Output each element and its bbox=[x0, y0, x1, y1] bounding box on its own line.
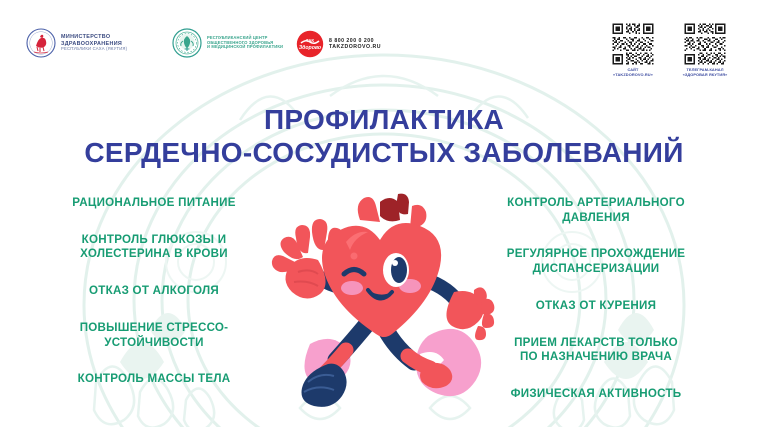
heart-shape bbox=[322, 223, 441, 337]
poster-canvas: МИНИСТЕРСТВО ЗДРАВООХРАНЕНИЯ РЕСПУБЛИКИ … bbox=[0, 0, 768, 427]
svg-text:ТАК: ТАК bbox=[306, 38, 315, 43]
tip-glucose-cholesterol-control: КОНТРОЛЬ ГЛЮКОЗЫ И ХОЛЕСТЕРИНА В КРОВИ bbox=[28, 233, 280, 262]
qr-website-caption-line2: «TAKZDOROVO.RU» bbox=[604, 73, 662, 78]
logo-ministry-text: МИНИСТЕРСТВО ЗДРАВООХРАНЕНИЯ РЕСПУБЛИКИ … bbox=[61, 34, 127, 52]
waving-heart-character bbox=[268, 186, 500, 412]
logo-public-health-center[interactable]: РЕСПУБЛИКАНСКИЙ ЦЕНТР ОБЩЕСТВЕННОГО ЗДОР… bbox=[172, 28, 283, 58]
tip-blood-pressure-control: КОНТРОЛЬ АРТЕРИАЛЬНОГО ДАВЛЕНИЯ bbox=[470, 196, 722, 225]
tip-line: ПО НАЗНАЧЕНИЮ ВРАЧА bbox=[470, 350, 722, 365]
qr-item-website[interactable]: САЙТ «TAKZDOROVO.RU» bbox=[604, 22, 662, 78]
green-emblem-icon bbox=[172, 28, 202, 58]
tip-line: ПРИЕМ ЛЕКАРСТВ ТОЛЬКО bbox=[470, 336, 722, 351]
svg-text:Здорово: Здорово bbox=[299, 45, 321, 51]
tip-line: ДИСПАНСЕРИЗАЦИИ bbox=[470, 262, 722, 277]
qr-telegram-caption-line2: «ЗДОРОВАЯ ЯКУТИЯ» bbox=[676, 73, 734, 78]
heart-body bbox=[322, 194, 441, 337]
qr-website-icon[interactable] bbox=[611, 22, 655, 66]
tips-column-left: РАЦИОНАЛЬНОЕ ПИТАНИЕ КОНТРОЛЬ ГЛЮКОЗЫ И … bbox=[28, 196, 280, 409]
tip-line: УСТОЙЧИВОСТИ bbox=[28, 336, 280, 351]
sakha-emblem-icon bbox=[26, 28, 56, 58]
tip-line: ХОЛЕСТЕРИНА В КРОВИ bbox=[28, 247, 280, 262]
hotline-website: TAKZDOROVO.RU bbox=[329, 44, 381, 50]
logo-takzdorovo-hotline[interactable]: ТАК Здорово 8 800 200 0 200 TAKZDOROVO.R… bbox=[296, 30, 381, 58]
title-line-2: СЕРДЕЧНО-СОСУДИСТЫХ ЗАБОЛЕВАНИЙ bbox=[0, 137, 768, 170]
logo-center-line3: И МЕДИЦИНСКОЙ ПРОФИЛАКТИКИ bbox=[207, 45, 283, 50]
tip-medication-by-prescription: ПРИЕМ ЛЕКАРСТВ ТОЛЬКО ПО НАЗНАЧЕНИЮ ВРАЧ… bbox=[470, 336, 722, 365]
tip-line: КОНТРОЛЬ ГЛЮКОЗЫ И bbox=[28, 233, 280, 248]
tip-no-alcohol: ОТКАЗ ОТ АЛКОГОЛЯ bbox=[28, 284, 280, 299]
tip-line: КОНТРОЛЬ МАССЫ ТЕЛА bbox=[28, 372, 280, 387]
page-title: ПРОФИЛАКТИКА СЕРДЕЧНО-СОСУДИСТЫХ ЗАБОЛЕВ… bbox=[0, 104, 768, 170]
qr-telegram-caption: ТЕЛЕГРАМ-КАНАЛ «ЗДОРОВАЯ ЯКУТИЯ» bbox=[676, 68, 734, 78]
tip-line: РАЦИОНАЛЬНОЕ ПИТАНИЕ bbox=[28, 196, 280, 211]
tip-weight-control: КОНТРОЛЬ МАССЫ ТЕЛА bbox=[28, 372, 280, 387]
logo-center-text: РЕСПУБЛИКАНСКИЙ ЦЕНТР ОБЩЕСТВЕННОГО ЗДОР… bbox=[207, 36, 283, 50]
qr-item-telegram[interactable]: ТЕЛЕГРАМ-КАНАЛ «ЗДОРОВАЯ ЯКУТИЯ» bbox=[676, 22, 734, 78]
logo-ministry-line3: РЕСПУБЛИКИ САХА (ЯКУТИЯ) bbox=[61, 47, 127, 52]
logo-hotline-text: 8 800 200 0 200 TAKZDOROVO.RU bbox=[329, 38, 381, 50]
tip-line: ОТКАЗ ОТ АЛКОГОЛЯ bbox=[28, 284, 280, 299]
tip-line: ФИЗИЧЕСКАЯ АКТИВНОСТЬ bbox=[470, 387, 722, 402]
qr-telegram-icon[interactable] bbox=[683, 22, 727, 66]
tip-line: ПОВЫШЕНИЕ СТРЕССО- bbox=[28, 321, 280, 336]
tip-stress-resistance: ПОВЫШЕНИЕ СТРЕССО- УСТОЙЧИВОСТИ bbox=[28, 321, 280, 350]
tip-no-smoking: ОТКАЗ ОТ КУРЕНИЯ bbox=[470, 299, 722, 314]
tip-physical-activity: ФИЗИЧЕСКАЯ АКТИВНОСТЬ bbox=[470, 387, 722, 402]
tip-line: КОНТРОЛЬ АРТЕРИАЛЬНОГО bbox=[470, 196, 722, 211]
tip-line: ОТКАЗ ОТ КУРЕНИЯ bbox=[470, 299, 722, 314]
title-line-1: ПРОФИЛАКТИКА bbox=[0, 104, 768, 137]
tip-line: ДАВЛЕНИЯ bbox=[470, 211, 722, 226]
qr-website-caption: САЙТ «TAKZDOROVO.RU» bbox=[604, 68, 662, 78]
qr-code-group: САЙТ «TAKZDOROVO.RU» bbox=[604, 22, 734, 78]
tips-column-right: КОНТРОЛЬ АРТЕРИАЛЬНОГО ДАВЛЕНИЯ РЕГУЛЯРН… bbox=[470, 196, 722, 424]
takzdorovo-red-circle-icon: ТАК Здорово bbox=[296, 30, 324, 58]
vessel-left bbox=[358, 197, 380, 222]
cheek-left bbox=[341, 281, 363, 295]
logo-ministry-of-health-sakha[interactable]: МИНИСТЕРСТВО ЗДРАВООХРАНЕНИЯ РЕСПУБЛИКИ … bbox=[26, 28, 127, 58]
tip-line: РЕГУЛЯРНОЕ ПРОХОЖДЕНИЕ bbox=[470, 247, 722, 262]
tip-rational-nutrition: РАЦИОНАЛЬНОЕ ПИТАНИЕ bbox=[28, 196, 280, 211]
eye-right bbox=[383, 253, 409, 287]
tip-regular-checkup: РЕГУЛЯРНОЕ ПРОХОЖДЕНИЕ ДИСПАНСЕРИЗАЦИИ bbox=[470, 247, 722, 276]
